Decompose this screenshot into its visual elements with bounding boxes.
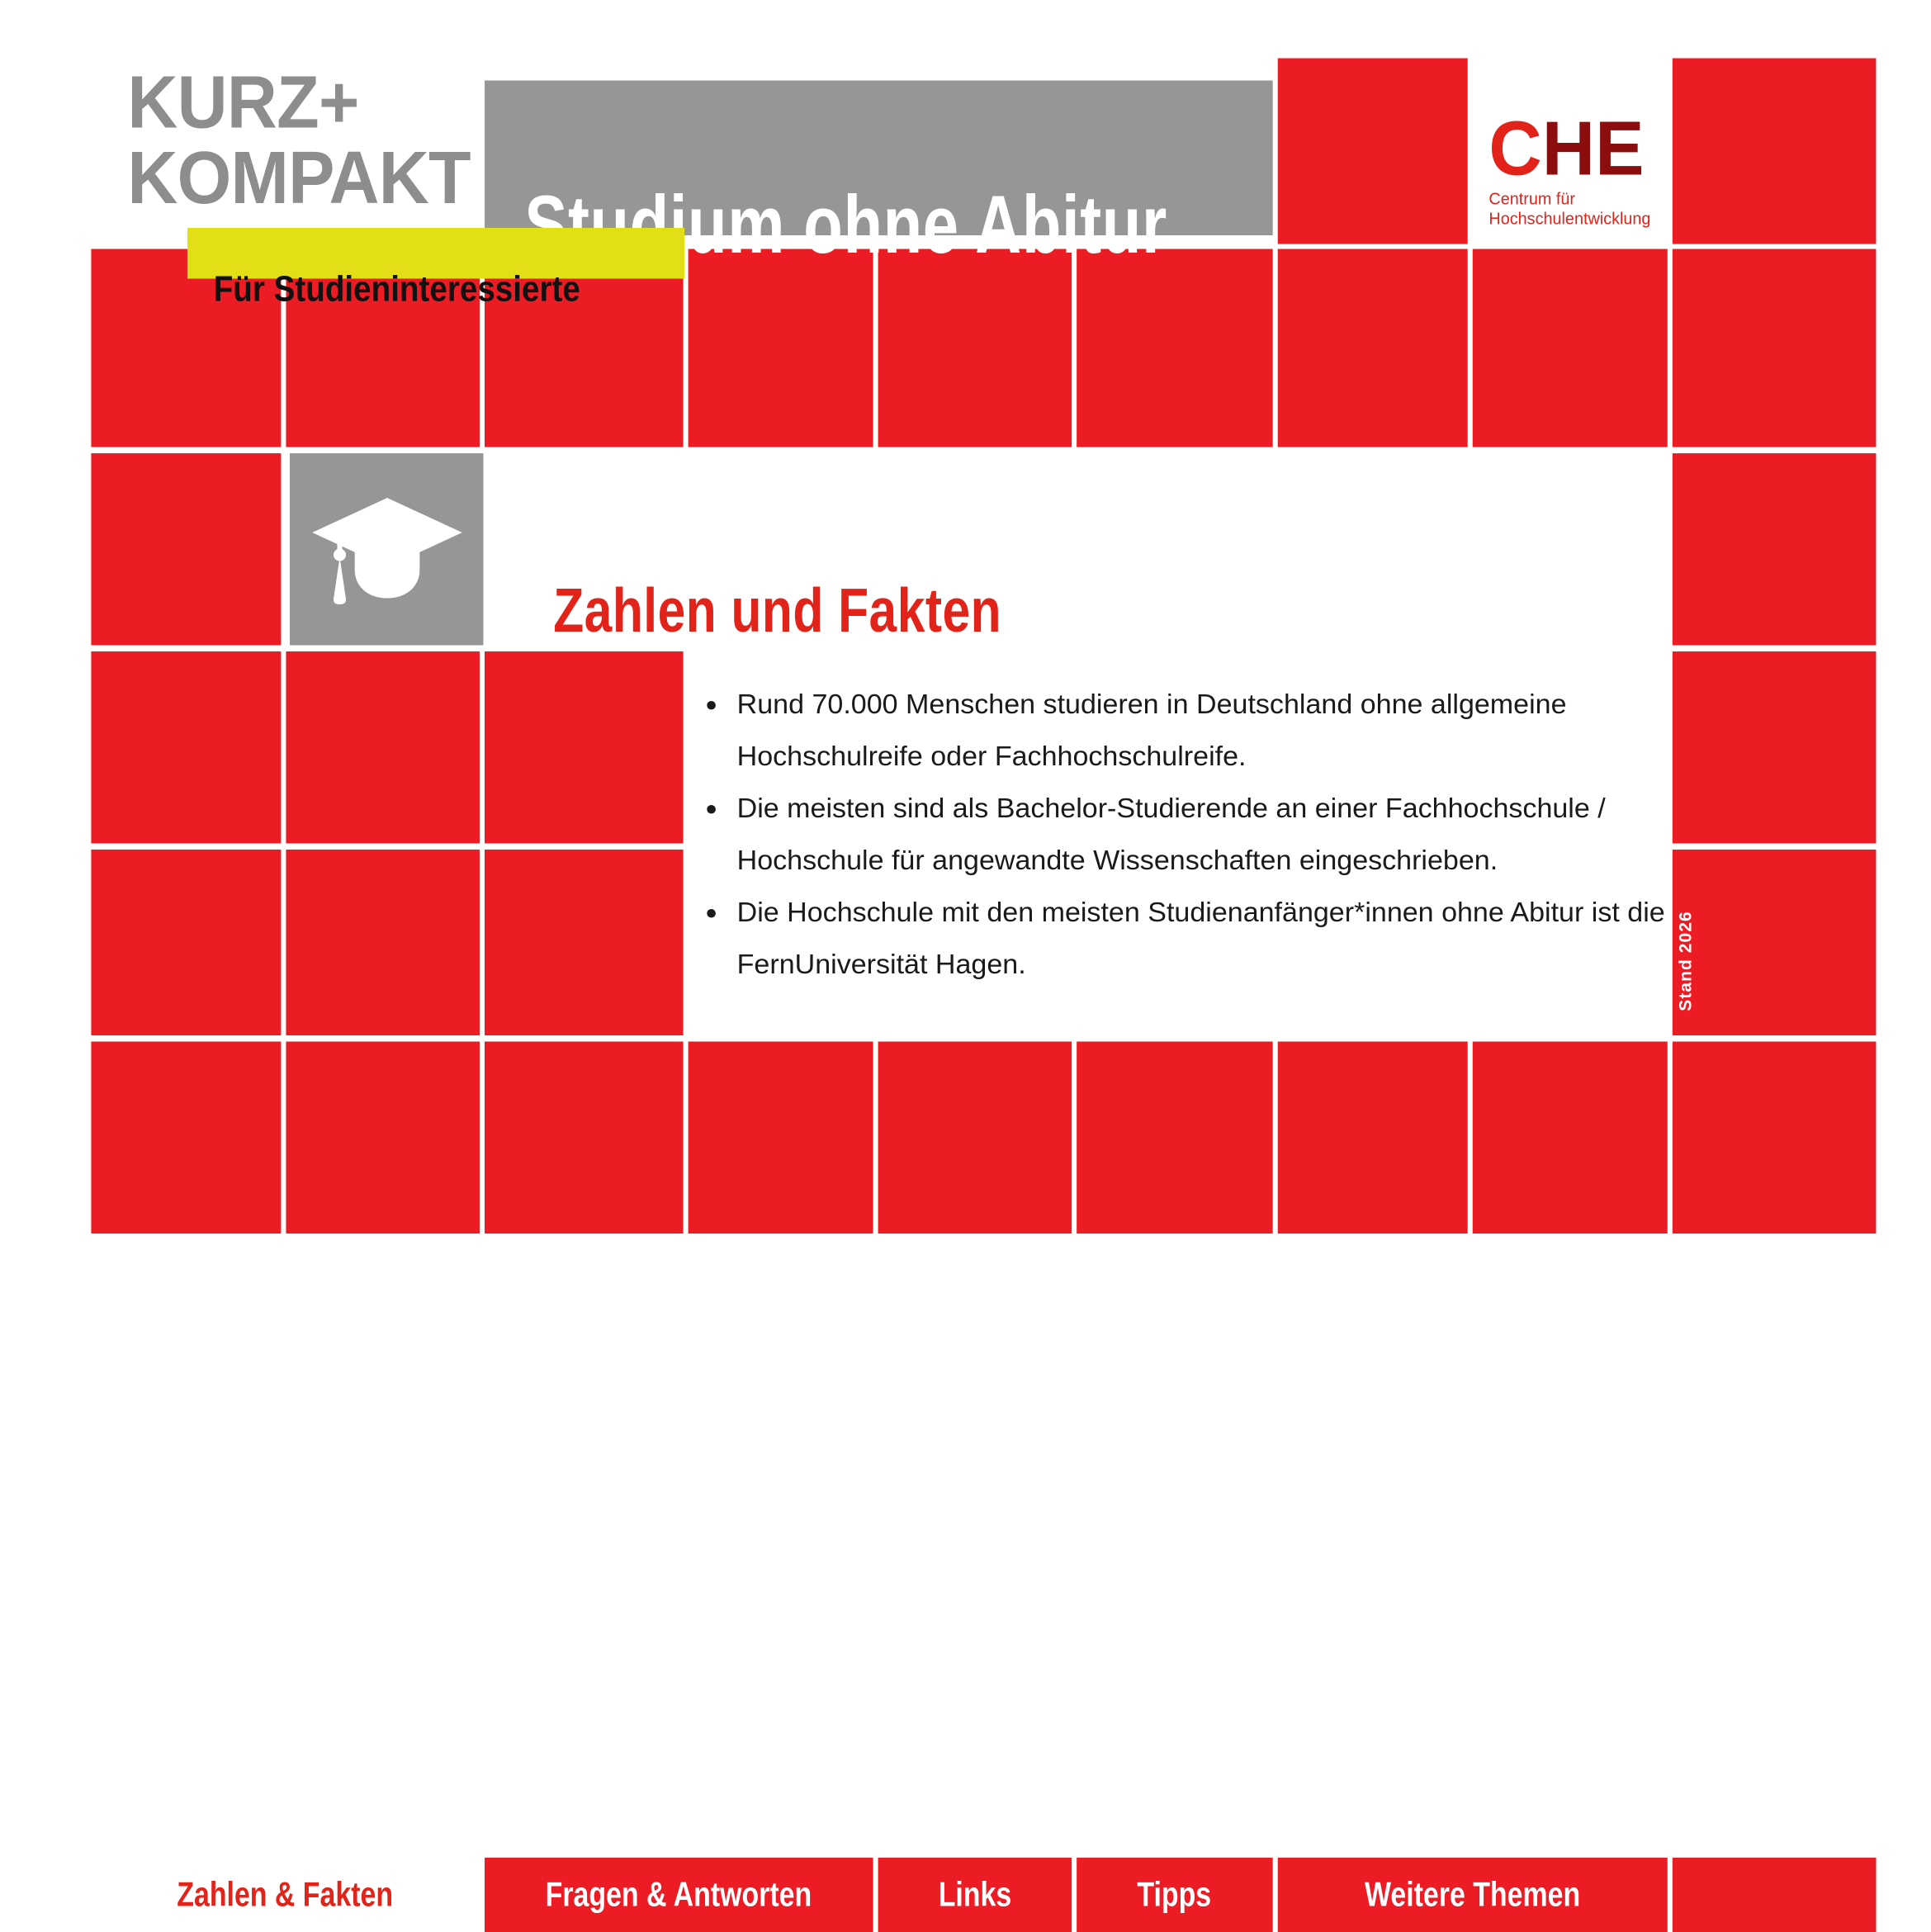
grid-tile [485,850,684,1035]
grid-tile [1673,1042,1877,1234]
nav-item-fragen-antworten[interactable]: Fragen & Antworten [485,1858,873,1932]
nav-item-spacer [1673,1858,1877,1932]
nav-item-label: Fragen & Antworten [546,1878,812,1912]
che-wordmark: CHE [1488,114,1654,187]
bullet-dot-icon [707,700,716,709]
grid-tile [1278,249,1468,447]
che-logo: CHE Centrum für Hochschulentwicklung [1488,114,1664,229]
nav-item-label: Links [939,1878,1012,1912]
infographic-page: KURZ+ KOMPAKT Studium ohne Abitur Für St… [0,0,1931,1288]
grid-tile [1673,249,1877,447]
list-item: Die meisten sind als Bachelor-Studierend… [699,783,1673,887]
list-item-text: Die meisten sind als Bachelor-Studierend… [737,783,1674,887]
nav-item-weitere-themen[interactable]: Weitere Themen [1278,1858,1668,1932]
grid-tile [286,850,480,1035]
che-subline-2: Hochschulentwicklung [1488,209,1658,229]
grid-tile [91,850,281,1035]
grid-tile [1077,249,1273,447]
graduation-cap-icon [310,493,465,607]
grid-tile [1278,59,1468,244]
che-letter-c: C [1488,107,1541,192]
facts-list: Rund 70.000 Menschen studieren in Deutsc… [699,679,1673,992]
che-subline: Centrum für Hochschulentwicklung [1488,189,1658,229]
nav-item-label: Zahlen & Fakten [177,1878,394,1912]
che-subline-1: Centrum für [1488,189,1658,209]
nav-item-zahlen-fakten[interactable]: Zahlen & Fakten [91,1858,480,1932]
audience-badge-label: Für Studieninteressierte [214,272,580,309]
grid-tile [91,453,281,646]
grid-tile [1473,249,1668,447]
list-item: Rund 70.000 Menschen studieren in Deutsc… [699,679,1673,783]
grid-tile [1278,1042,1468,1234]
che-letters-he: HE [1542,107,1645,192]
grid-tile [485,1042,684,1234]
nav-item-label: Weitere Themen [1365,1878,1580,1912]
edition-stamp-label: Stand 2026 [1675,850,1695,1073]
grid-tile [689,1042,873,1234]
list-item-text: Die Hochschule mit den meisten Studienan… [737,887,1674,991]
edition-stamp: Stand 2026 [1658,855,1690,1077]
grid-tile [1473,1042,1668,1234]
grid-tile [1673,651,1877,844]
grid-tile [878,1042,1072,1234]
grid-tile [286,651,480,844]
grid-tile [286,1042,480,1234]
grid-tile [1673,453,1877,646]
kicker-kurz-kompakt: KURZ+ KOMPAKT [127,64,464,216]
nav-item-links[interactable]: Links [878,1858,1072,1932]
bullet-dot-icon [707,909,716,918]
nav-item-tipps[interactable]: Tipps [1077,1858,1273,1932]
grid-tile [1673,850,1877,1035]
bullet-dot-icon [707,805,716,814]
list-item: Die Hochschule mit den meisten Studienan… [699,887,1673,991]
grid-tile [689,249,873,447]
grid-tile [1077,1042,1273,1234]
kicker-line-1: KURZ+ [127,61,358,144]
list-item-text: Rund 70.000 Menschen studieren in Deutsc… [737,679,1674,783]
kicker-line-2: KOMPAKT [127,140,464,216]
nav-item-label: Tipps [1138,1878,1212,1912]
grid-tile [91,651,281,844]
grid-tile [91,1042,281,1234]
section-heading: Zahlen und Fakten [553,580,1001,642]
grid-tile [878,249,1072,447]
grid-tile [485,651,684,844]
grid-tile [1673,59,1877,244]
